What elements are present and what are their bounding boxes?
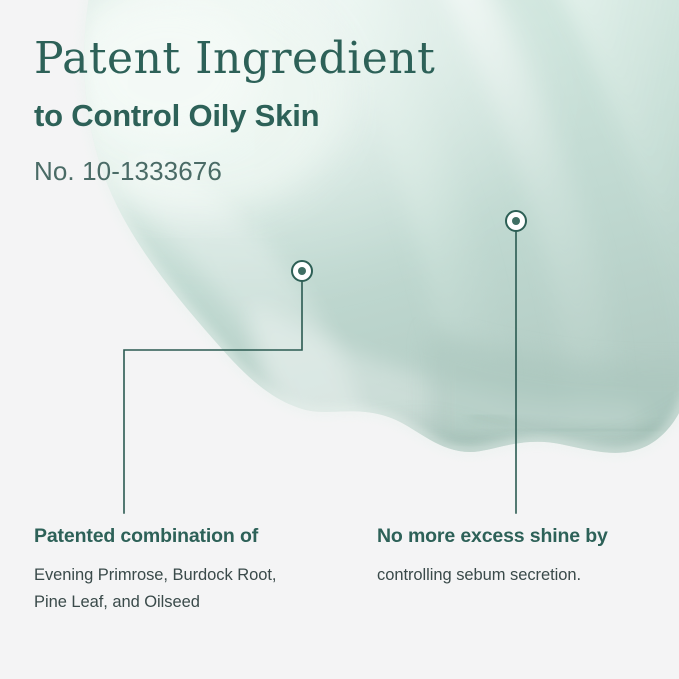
callout-right-heading: No more excess shine by: [377, 524, 677, 548]
callout-marker-right-core: [512, 217, 520, 225]
promo-graphic-root: Patent Ingredient to Control Oily Skin N…: [0, 0, 679, 679]
callout-caption-right: No more excess shine by controlling sebu…: [377, 524, 677, 589]
callout-caption-left: Patented combination of Evening Primrose…: [34, 524, 334, 615]
callout-right-body-line-1: controlling sebum secretion.: [377, 562, 677, 588]
connector-line-left: [124, 282, 302, 513]
callout-right-body: controlling sebum secretion.: [377, 562, 677, 588]
patent-number: No. 10-1333676: [34, 156, 634, 187]
callout-marker-left[interactable]: [291, 260, 313, 282]
callout-left-body-line-2: Pine Leaf, and Oilseed: [34, 589, 334, 615]
page-subtitle-bold: to Control Oily Skin: [34, 97, 634, 134]
callout-marker-right-ring: [507, 212, 525, 230]
callout-left-body-line-1: Evening Primrose, Burdock Root,: [34, 562, 334, 588]
callout-marker-left-core: [298, 267, 306, 275]
callout-left-body: Evening Primrose, Burdock Root, Pine Lea…: [34, 562, 334, 615]
callout-marker-right[interactable]: [505, 210, 527, 232]
callout-marker-left-ring: [293, 262, 311, 280]
page-title-serif: Patent Ingredient: [34, 36, 634, 83]
callout-left-heading: Patented combination of: [34, 524, 334, 548]
headline-block: Patent Ingredient to Control Oily Skin N…: [34, 36, 634, 187]
